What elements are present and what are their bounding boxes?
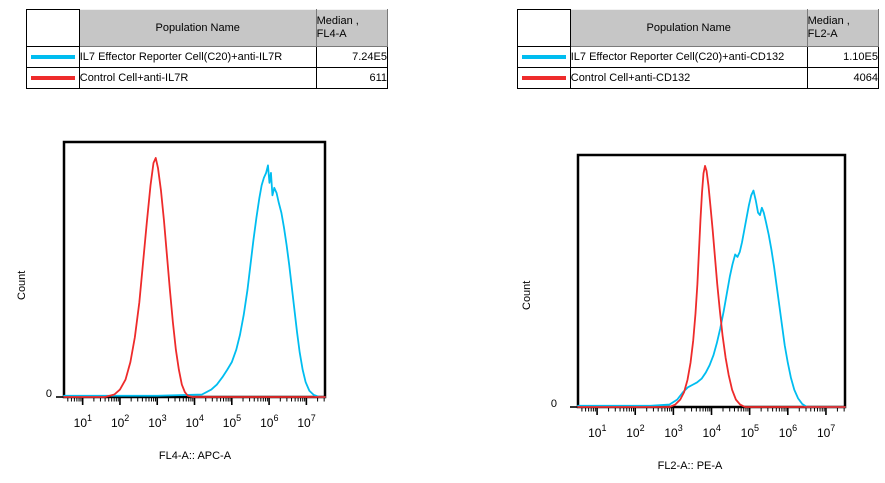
- x-tick-label: 107: [297, 413, 315, 430]
- histogram-trace: [578, 166, 845, 407]
- x-axis-title: FL2-A:: PE-A: [600, 460, 780, 472]
- x-tick-label: 101: [588, 423, 606, 440]
- x-tick-label: 103: [148, 413, 166, 430]
- panel-left: Population Name Median , FL4-A IL7 Effec…: [0, 0, 442, 483]
- y-axis-title: Count: [521, 281, 533, 310]
- x-tick-label: 106: [260, 413, 278, 430]
- histogram-canvas-left: 101102103104105106107: [0, 0, 442, 483]
- y-tick-label-zero: 0: [535, 398, 557, 410]
- y-axis-title: Count: [16, 271, 28, 300]
- x-tick-label: 102: [626, 423, 644, 440]
- x-tick-label: 104: [186, 413, 204, 430]
- x-tick-label: 102: [111, 413, 129, 430]
- y-tick-label-zero: 0: [30, 388, 52, 400]
- x-tick-label: 105: [223, 413, 241, 430]
- histogram-plot-right: Count 0 101102103104105106107 FL2-A:: PE…: [443, 0, 885, 483]
- x-tick-label: 107: [817, 423, 835, 440]
- histogram-trace: [64, 165, 325, 397]
- x-tick-label: 104: [703, 423, 721, 440]
- x-tick-label: 105: [741, 423, 759, 440]
- histogram-trace: [64, 158, 325, 397]
- x-tick-label: 103: [664, 423, 682, 440]
- histogram-plot-left: Count 0 101102103104105106107 FL4-A:: AP…: [0, 0, 442, 483]
- x-axis-title: FL4-A:: APC-A: [85, 450, 305, 462]
- panel-right: Population Name Median , FL2-A IL7 Effec…: [443, 0, 885, 483]
- x-tick-label: 101: [74, 413, 92, 430]
- x-tick-label: 106: [779, 423, 797, 440]
- histogram-canvas-right: 101102103104105106107: [443, 0, 885, 483]
